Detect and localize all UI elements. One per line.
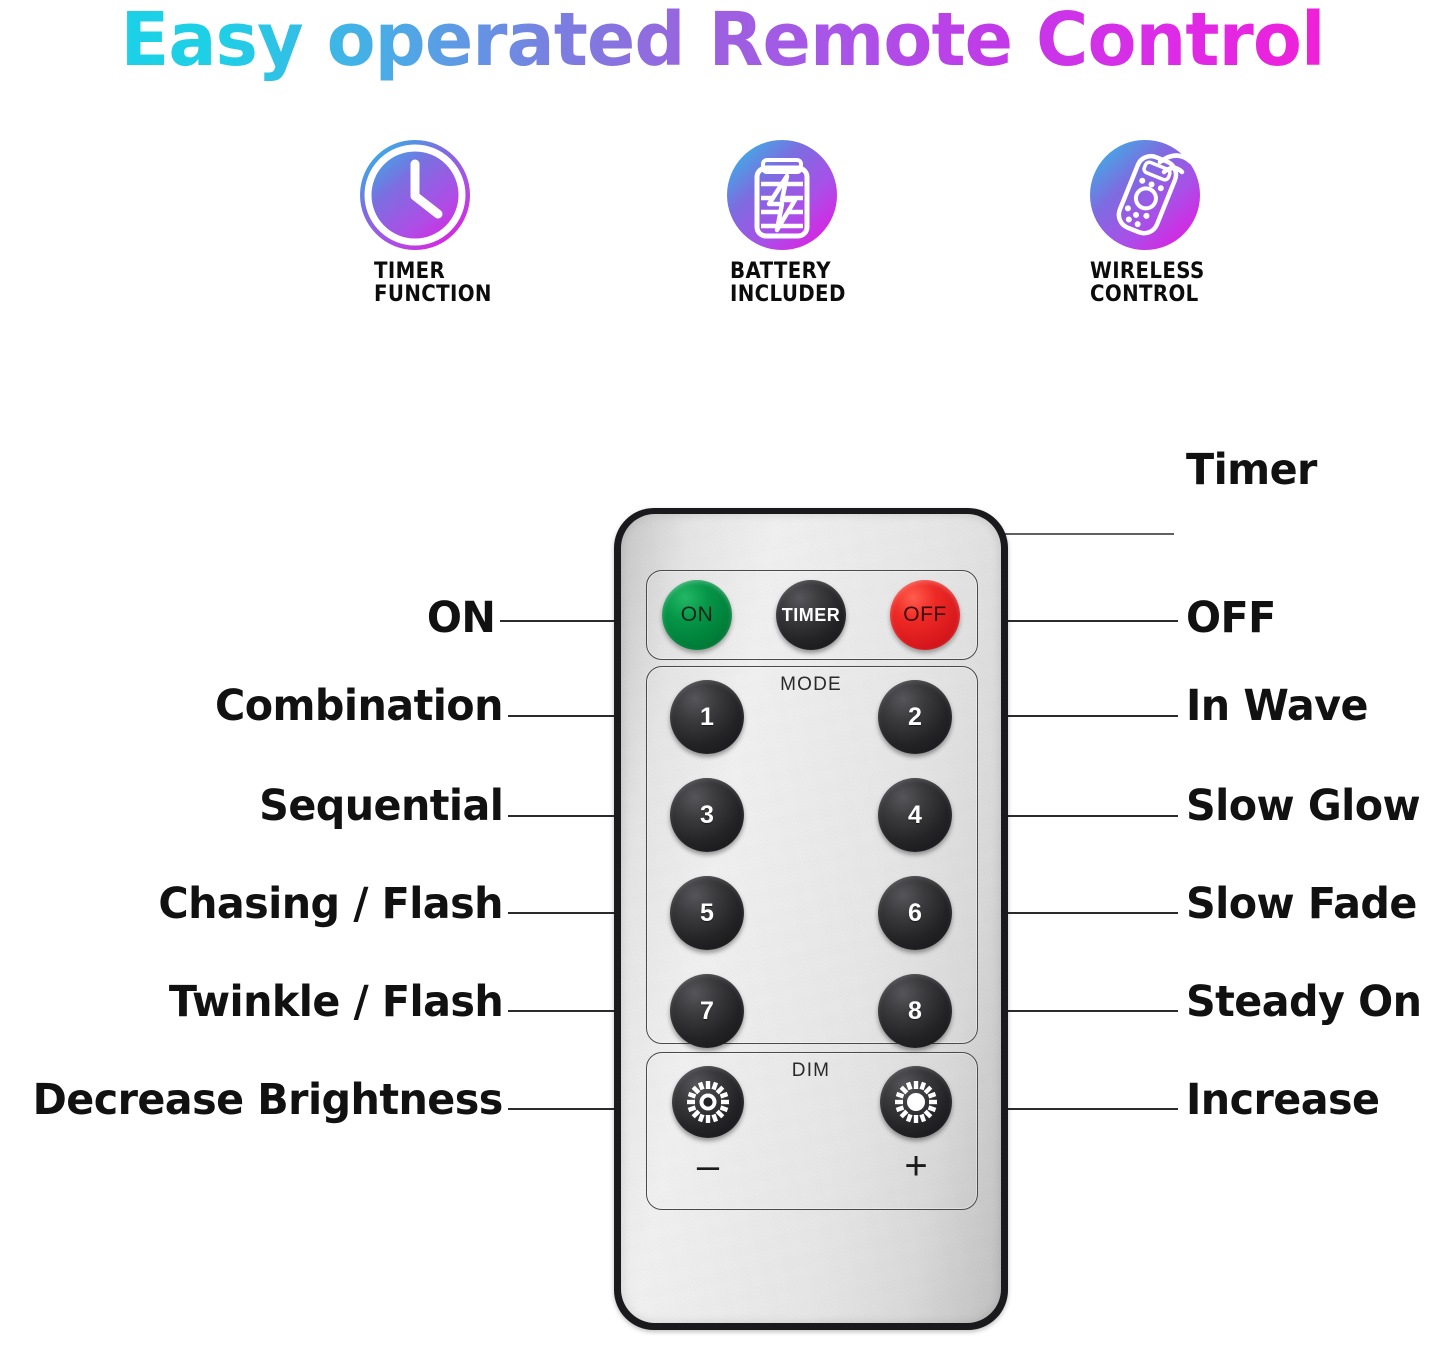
mode-panel-label: MODE (614, 674, 1008, 696)
mode-button-7-label: 7 (700, 997, 714, 1026)
feature-wireless-control: WIRELESS CONTROL (1088, 138, 1308, 308)
off-button[interactable]: OFF (890, 580, 960, 650)
mode-button-7[interactable]: 7 (670, 974, 744, 1048)
callout-timer: Timer (1186, 447, 1317, 493)
mode-button-8[interactable]: 8 (878, 974, 952, 1048)
callout-slow-fade: Slow Fade (1186, 881, 1417, 927)
callout-off: OFF (1186, 595, 1276, 641)
remote-icon (1088, 138, 1202, 257)
mode-button-1-label: 1 (700, 703, 714, 732)
remote-control-device: ON TIMER OFF MODE 1 2 3 4 5 6 7 8 DIM (614, 508, 1008, 1330)
feature-label-line2: INCLUDED (730, 283, 846, 306)
mode-button-1[interactable]: 1 (670, 680, 744, 754)
feature-label-line1: TIMER (374, 260, 445, 283)
callout-slow-glow: Slow Glow (1186, 783, 1420, 829)
sun-bright-icon (892, 1078, 940, 1126)
battery-icon (725, 138, 839, 257)
feature-battery-included: BATTERY INCLUDED (725, 138, 925, 308)
timer-button-label: TIMER (782, 605, 841, 626)
callout-steady-on: Steady On (1186, 979, 1421, 1025)
mode-button-4-label: 4 (908, 801, 922, 830)
callout-twinkle-flash: Twinkle / Flash (169, 979, 503, 1025)
mode-button-5[interactable]: 5 (670, 876, 744, 950)
clock-icon (358, 138, 472, 257)
feature-label-line2: FUNCTION (374, 283, 492, 306)
mode-button-5-label: 5 (700, 899, 714, 928)
timer-button[interactable]: TIMER (776, 580, 846, 650)
feature-timer-function: TIMER FUNCTION (358, 138, 558, 308)
callout-increase: Increase (1186, 1077, 1379, 1123)
callout-sequential: Sequential (259, 783, 503, 829)
plus-sign: + (880, 1146, 952, 1186)
mode-button-2[interactable]: 2 (878, 680, 952, 754)
page-title-bar: Easy operated Remote Control (0, 0, 1445, 88)
page-title: Easy operated Remote Control (25, 0, 1419, 84)
feature-label-line2: CONTROL (1090, 283, 1199, 306)
callout-chasing-flash: Chasing / Flash (158, 881, 503, 927)
callout-on: ON (427, 595, 495, 641)
callout-in-wave: In Wave (1186, 683, 1368, 729)
minus-sign: – (672, 1146, 744, 1186)
mode-button-2-label: 2 (908, 703, 922, 732)
mode-button-8-label: 8 (908, 997, 922, 1026)
on-button[interactable]: ON (662, 580, 732, 650)
callout-decrease-brightness: Decrease Brightness (33, 1077, 503, 1123)
mode-button-3[interactable]: 3 (670, 778, 744, 852)
callout-combination: Combination (215, 683, 503, 729)
mode-button-6-label: 6 (908, 899, 922, 928)
on-button-label: ON (681, 603, 714, 627)
feature-label-line1: BATTERY (730, 260, 831, 283)
mode-button-4[interactable]: 4 (878, 778, 952, 852)
feature-label-line1: WIRELESS (1090, 260, 1205, 283)
mode-button-3-label: 3 (700, 801, 714, 830)
sun-dim-icon (684, 1078, 732, 1126)
decrease-brightness-button[interactable] (672, 1066, 744, 1138)
mode-button-6[interactable]: 6 (878, 876, 952, 950)
dim-panel-label: DIM (614, 1060, 1008, 1082)
increase-brightness-button[interactable] (880, 1066, 952, 1138)
off-button-label: OFF (903, 603, 947, 627)
